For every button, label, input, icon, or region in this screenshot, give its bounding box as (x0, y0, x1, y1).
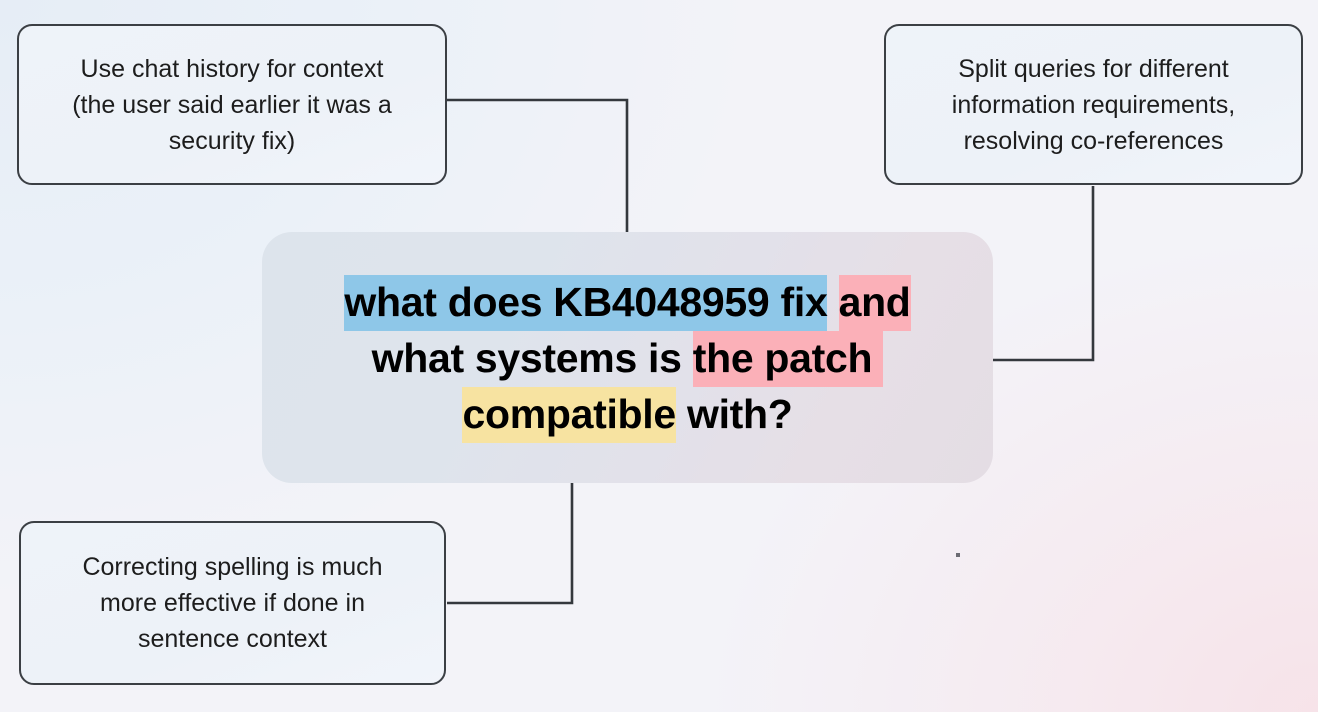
callout-bottom-left: Correcting spelling is much more effecti… (19, 521, 446, 685)
callout-bottom-left-line-2: more effective if done in (82, 585, 382, 621)
callout-top-left-line-3: security fix) (72, 123, 392, 159)
highlight-blue-segment: what does KB4048959 fix (344, 275, 827, 331)
callout-top-right-text: Split queries for different information … (952, 51, 1235, 159)
query-line-3: compatible with? (462, 387, 792, 441)
callout-top-right-line-2: information requirements, (952, 87, 1235, 123)
diagram-canvas: what does KB4048959 fix and what systems… (0, 0, 1318, 712)
query-line-2: what systems is the patch (372, 331, 884, 385)
callout-top-left-line-1: Use chat history for context (72, 51, 392, 87)
callout-top-right-line-1: Split queries for different (952, 51, 1235, 87)
callout-bottom-left-line-1: Correcting spelling is much (82, 549, 382, 585)
query-plain-segment-2: with? (676, 391, 793, 437)
callout-top-left-line-2: (the user said earlier it was a (72, 87, 392, 123)
callout-bottom-left-text: Correcting spelling is much more effecti… (82, 549, 382, 657)
callout-top-left: Use chat history for context (the user s… (17, 24, 447, 185)
highlight-pink-segment-1: and (839, 275, 911, 331)
query-text: what does KB4048959 fix and what systems… (262, 232, 993, 483)
highlight-pink-segment-2: the patch (693, 331, 884, 387)
query-plain-segment-1: what systems is (372, 335, 693, 381)
stray-dot-artifact (956, 553, 960, 557)
highlight-yellow-segment: compatible (462, 387, 675, 443)
query-panel: what does KB4048959 fix and what systems… (262, 232, 993, 483)
callout-top-left-text: Use chat history for context (the user s… (72, 51, 392, 159)
callout-top-right: Split queries for different information … (884, 24, 1303, 185)
callout-top-right-line-3: resolving co-references (952, 123, 1235, 159)
query-space-1 (827, 279, 838, 325)
query-line-1: what does KB4048959 fix and (344, 275, 910, 329)
callout-bottom-left-line-3: sentence context (82, 621, 382, 657)
